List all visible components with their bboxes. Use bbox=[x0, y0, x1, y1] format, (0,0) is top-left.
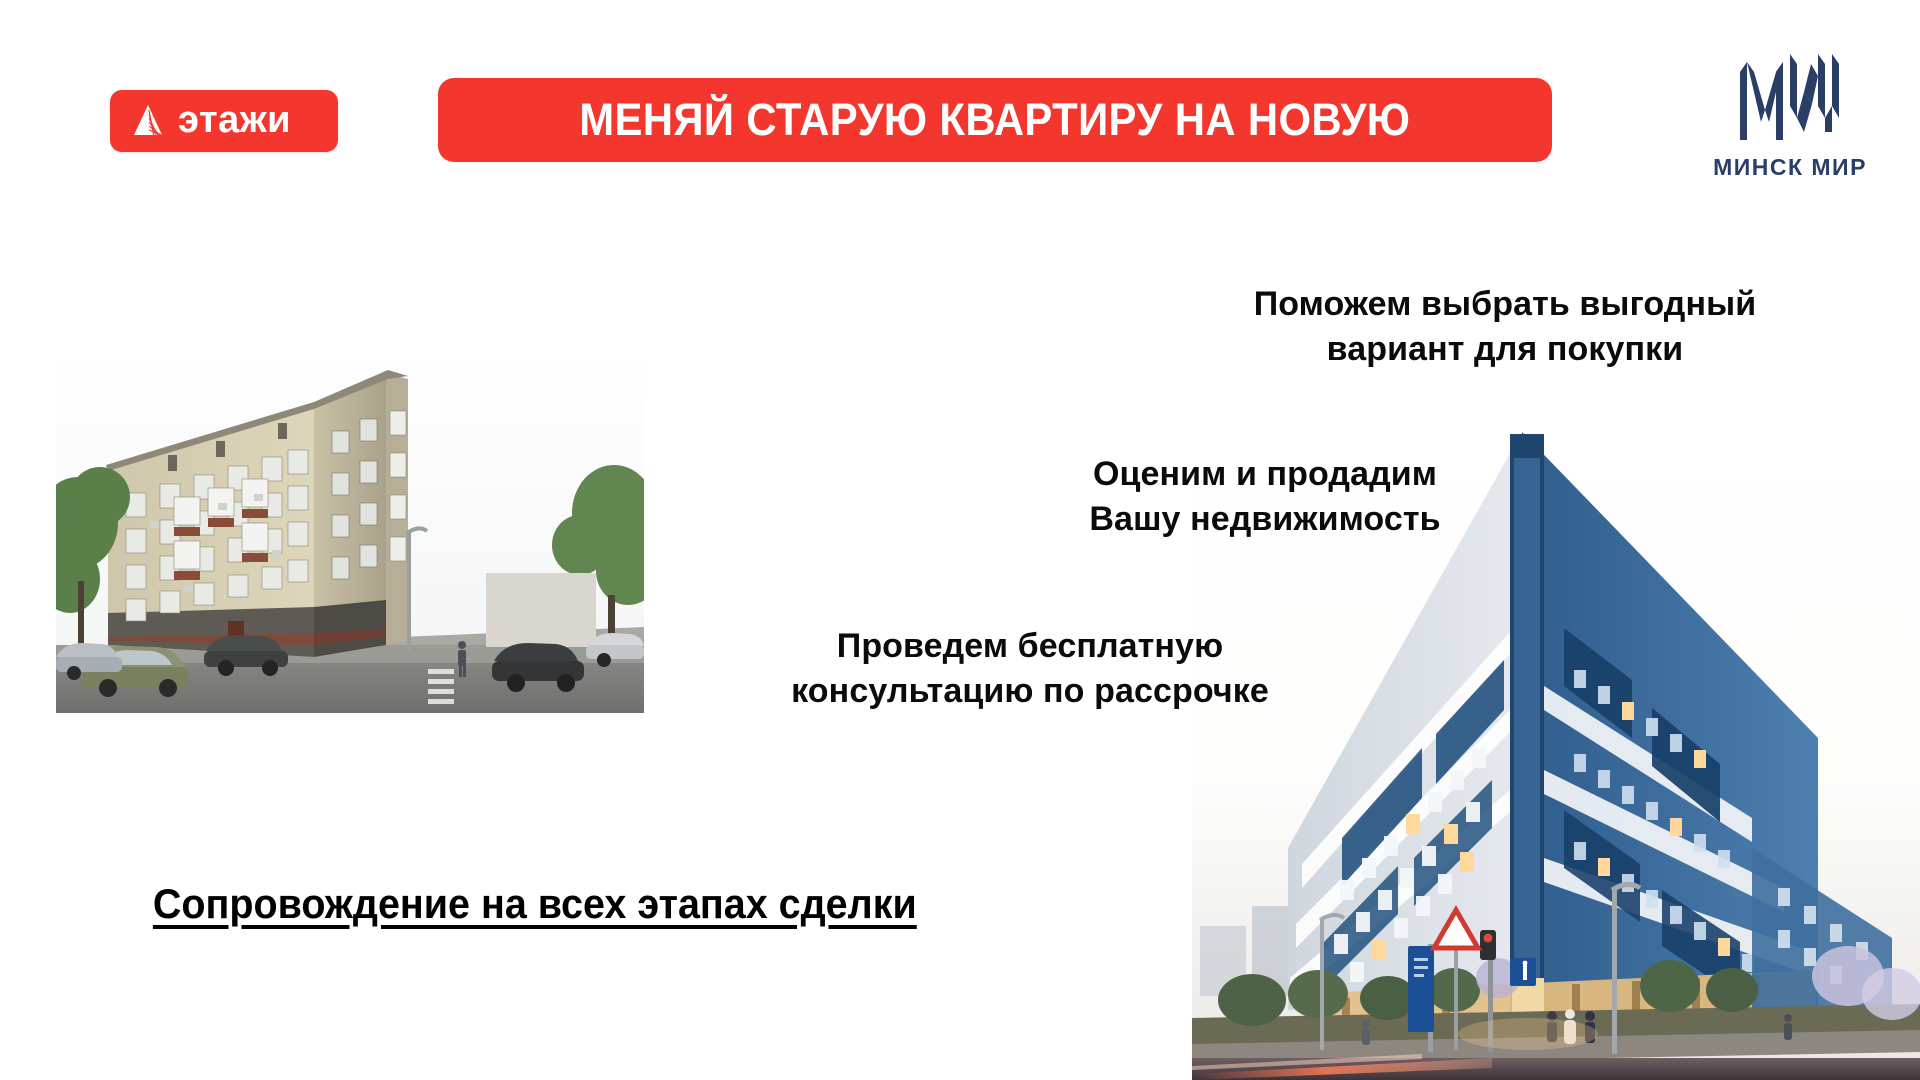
headline-text: МЕНЯЙ СТАРУЮ КВАРТИРУ НА НОВУЮ bbox=[579, 94, 1410, 146]
mw-monogram-icon bbox=[1734, 48, 1846, 144]
slide-canvas: этажи МЕНЯЙ СТАРУЮ КВАРТИРУ НА НОВУЮ bbox=[0, 0, 1920, 1080]
benefit-text-appraise-and-sell: Оценим и продадим Вашу недвижимость bbox=[1040, 452, 1490, 542]
benefit-text-free-consultation: Проведем бесплатную консультацию по расс… bbox=[770, 624, 1290, 714]
footer-support-all-stages: Сопровождение на всех этапах сделки bbox=[140, 880, 930, 928]
building-house-icon bbox=[128, 101, 168, 141]
headline-banner: МЕНЯЙ СТАРУЮ КВАРТИРУ НА НОВУЮ bbox=[438, 78, 1552, 162]
benefit-text-choose-option: Поможем выбрать выгодный вариант для пок… bbox=[1215, 282, 1795, 372]
minsk-mir-logo[interactable]: МИНСК МИР bbox=[1690, 48, 1890, 188]
etazhi-brand-label: этажи bbox=[178, 101, 291, 142]
minsk-mir-wordmark: МИНСК МИР bbox=[1713, 154, 1867, 181]
etazhi-brand-badge[interactable]: этажи bbox=[110, 90, 338, 152]
old-apartment-building-photo bbox=[56, 345, 644, 713]
